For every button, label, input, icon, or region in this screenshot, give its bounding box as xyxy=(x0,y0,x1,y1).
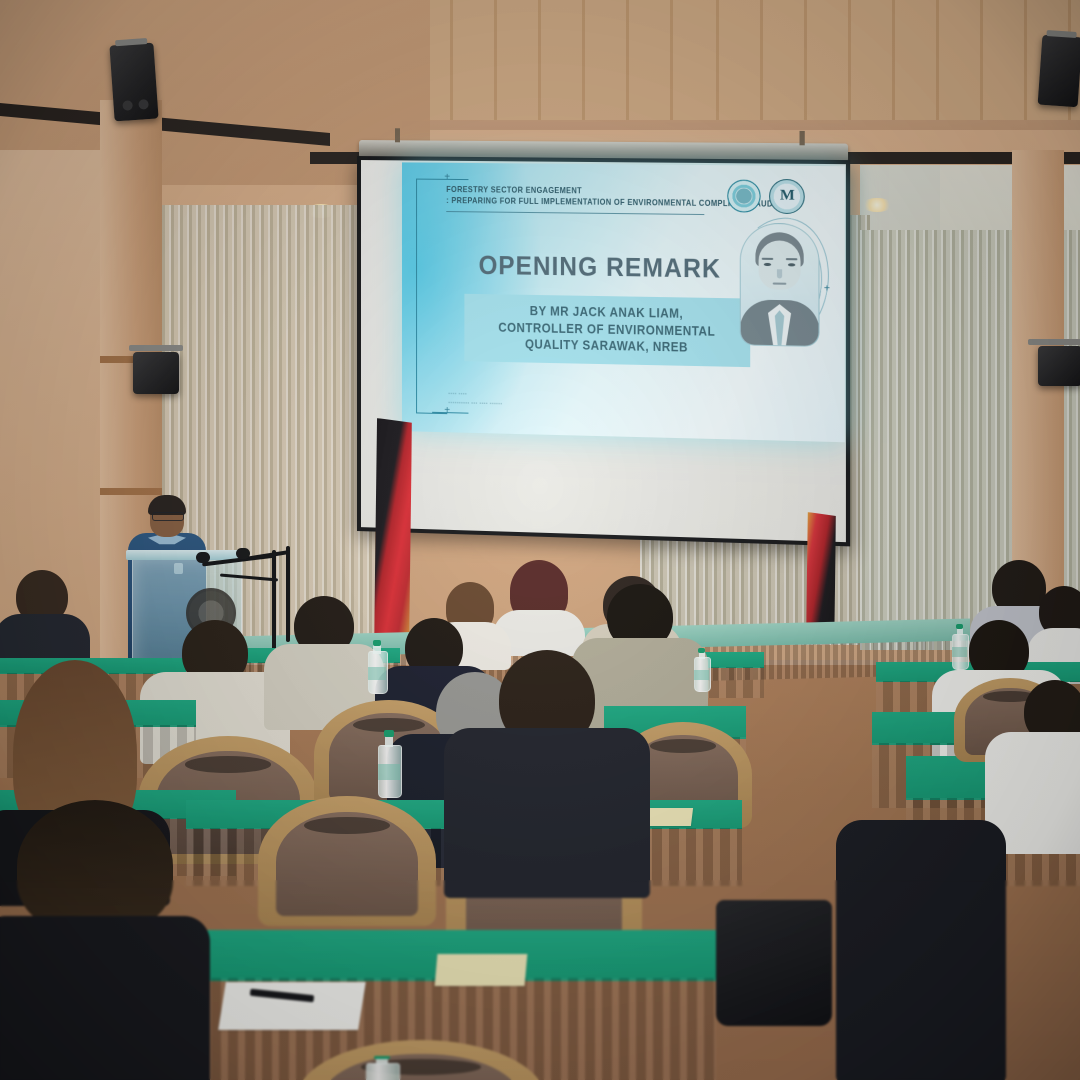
slide-header-line1: FORESTRY SECTOR ENGAGEMENT xyxy=(446,185,717,197)
monogram-glyph: M xyxy=(780,187,794,205)
sheet-of-paper xyxy=(218,982,366,1030)
backpack-on-floor xyxy=(716,900,832,1026)
sarawak-monogram-logo: M xyxy=(769,179,805,214)
water-bottle xyxy=(694,648,709,690)
wall-mounted-loudspeaker xyxy=(133,352,179,394)
wall-mounted-loudspeaker xyxy=(1038,346,1080,386)
audience-member xyxy=(1000,680,1080,850)
projection-screen: + + + + FORESTRY SECTOR ENGAGEMENT : PRE… xyxy=(357,140,850,545)
nreb-circular-emblem-logo xyxy=(727,180,760,213)
audience-member xyxy=(462,650,632,890)
water-bottle xyxy=(366,1056,398,1080)
yellow-name-card xyxy=(435,954,528,986)
water-bottle xyxy=(378,730,400,796)
presentation-slide: + + + + FORESTRY SECTOR ENGAGEMENT : PRE… xyxy=(402,162,845,442)
water-bottle xyxy=(952,624,967,668)
banquet-chair xyxy=(296,1040,546,1080)
audience-member-foreground xyxy=(0,800,190,1080)
pillar-trim-left-lower xyxy=(100,488,162,495)
wall-mounted-loudspeaker xyxy=(1038,35,1080,108)
wall-mounted-loudspeaker xyxy=(109,43,158,122)
slide-header: FORESTRY SECTOR ENGAGEMENT : PREPARING F… xyxy=(446,185,754,209)
wooden-slat-ceiling-panel xyxy=(420,0,1080,120)
water-bottle xyxy=(368,640,386,692)
slide-subtitle-line3: QUALITY SARAWAK, NREB xyxy=(484,336,730,358)
slide-decorative-bracket xyxy=(416,179,447,415)
conference-hall-photo: + + + + FORESTRY SECTOR ENGAGEMENT : PRE… xyxy=(0,0,1080,1080)
slide-title: OPENING REMARK xyxy=(458,249,741,285)
recessed-ceiling-downlight xyxy=(862,198,892,212)
slide-subtitle-box: BY MR JACK ANAK LIAM, CONTROLLER OF ENVI… xyxy=(464,294,750,367)
audience-member xyxy=(846,820,996,1080)
speaker-portrait-photo xyxy=(740,223,820,347)
banquet-chair xyxy=(258,796,436,926)
audience-member xyxy=(0,570,84,666)
slide-plus-mark-top: + xyxy=(444,174,450,182)
